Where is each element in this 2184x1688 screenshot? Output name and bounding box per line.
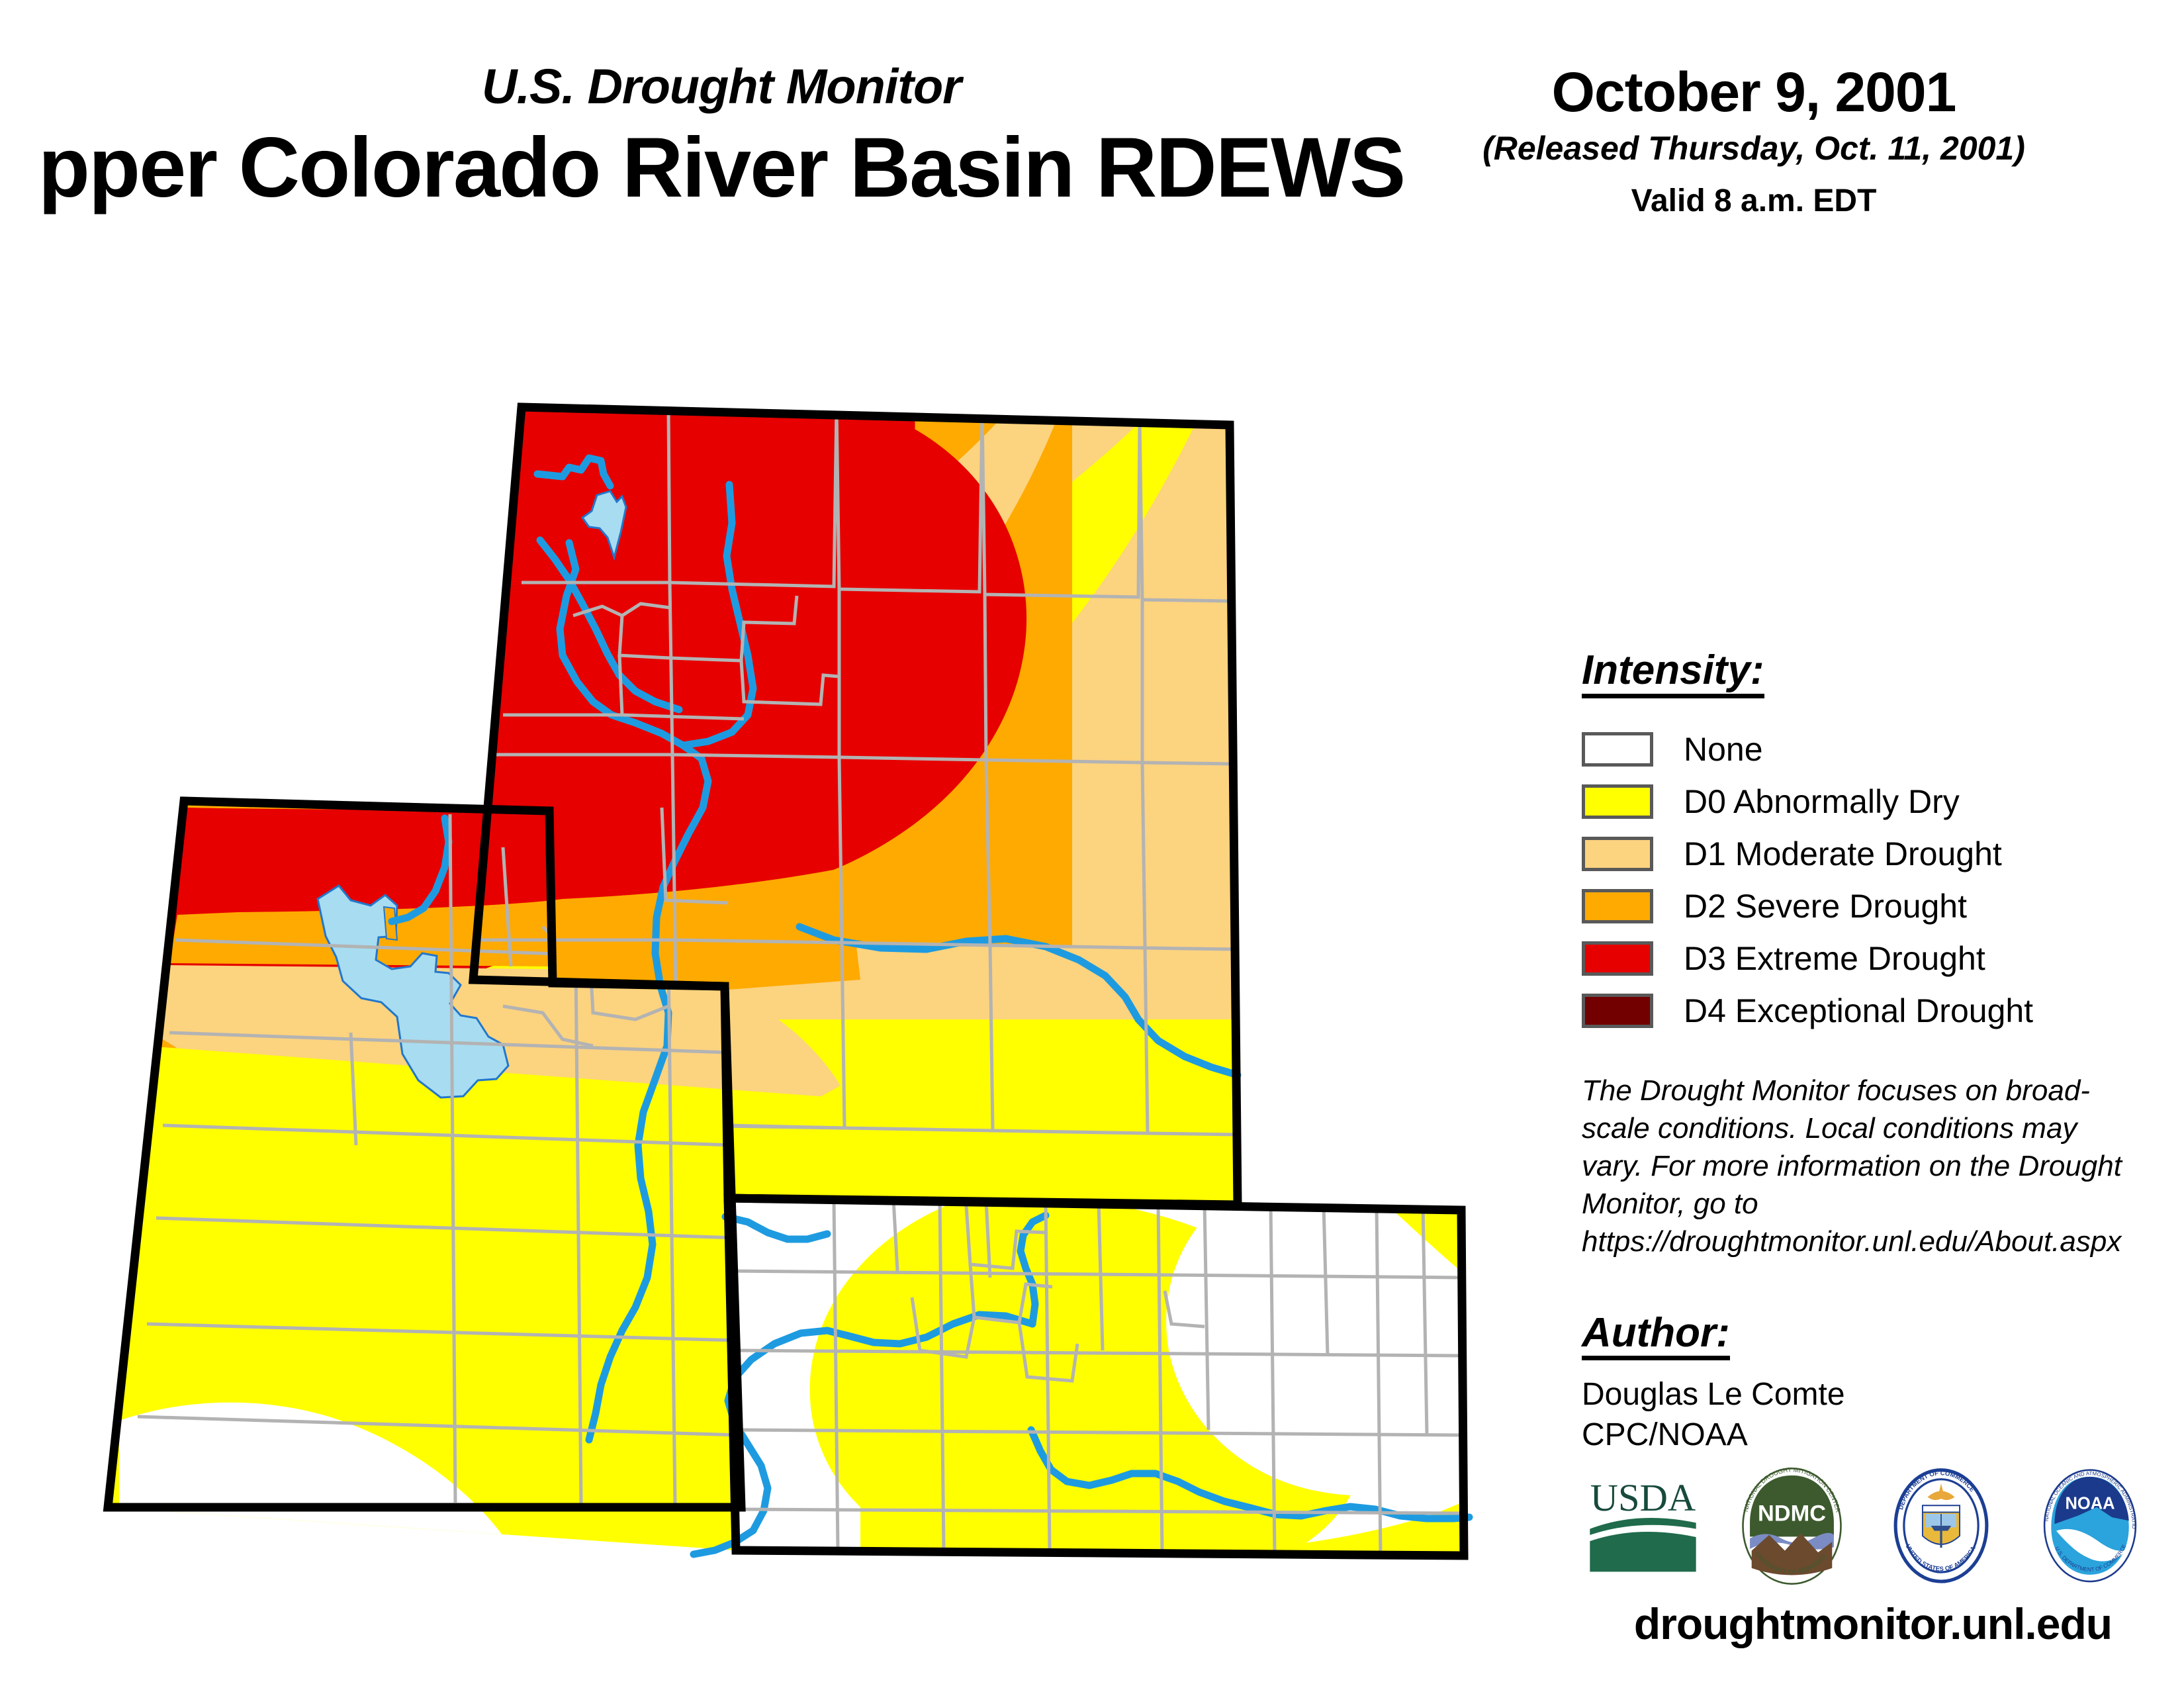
legend-swatch-none xyxy=(1582,732,1653,767)
map-svg xyxy=(40,344,1535,1602)
ndmc-logo-svg: NDMC NATIONAL DROUGHT MITIGATION CENTER … xyxy=(1734,1465,1850,1587)
legend-swatch-d3 xyxy=(1582,941,1653,976)
usda-wordmark: USDA xyxy=(1590,1476,1696,1519)
page-title: pper Colorado River Basin RDEWS xyxy=(0,126,1482,211)
date-block: October 9, 2001 (Released Thursday, Oct.… xyxy=(1456,63,2052,219)
legend-item-none[interactable]: None xyxy=(1582,724,2158,776)
noaa-wordmark: NOAA xyxy=(2065,1494,2115,1513)
legend-label-d3: D3 Extreme Drought xyxy=(1684,942,1985,975)
band-d3-utah xyxy=(179,808,555,912)
doc-ship-hull xyxy=(1931,1525,1951,1530)
partner-logos: USDA NDMC NATIONAL DROUGHT MITIGATION CE… xyxy=(1582,1460,2151,1592)
legend-list: None D0 Abnormally Dry D1 Moderate Droug… xyxy=(1582,724,2158,1037)
legend-item-d1[interactable]: D1 Moderate Drought xyxy=(1582,828,2158,880)
legend-item-d2[interactable]: D2 Severe Drought xyxy=(1582,880,2158,933)
ndmc-logo[interactable]: NDMC NATIONAL DROUGHT MITIGATION CENTER … xyxy=(1731,1465,1853,1587)
author-affiliation: CPC/NOAA xyxy=(1582,1415,2158,1456)
legend-panel: Intensity: None D0 Abnormally Dry D1 Mod… xyxy=(1582,649,2158,1456)
author-heading: Author: xyxy=(1582,1311,1730,1361)
legend-label-d1: D1 Moderate Drought xyxy=(1684,837,2002,870)
ndmc-wordmark: NDMC xyxy=(1758,1501,1826,1526)
drought-map[interactable] xyxy=(40,344,1535,1602)
usda-logo-svg: USDA xyxy=(1582,1470,1704,1582)
legend-item-d3[interactable]: D3 Extreme Drought xyxy=(1582,933,2158,985)
noaa-logo-svg: NOAA NATIONAL OCEANIC AND ATMOSPHERIC AD… xyxy=(2034,1465,2146,1587)
doc-logo-svg: DEPARTMENT OF COMMERCE UNITED STATES OF … xyxy=(1885,1465,1997,1587)
legend-swatch-d2 xyxy=(1582,889,1653,923)
valid-date: October 9, 2001 xyxy=(1456,63,2052,121)
legend-swatch-d1 xyxy=(1582,837,1653,871)
legend-label-d4: D4 Exceptional Drought xyxy=(1684,994,2033,1027)
valid-time: Valid 8 a.m. EDT xyxy=(1456,184,2052,219)
disclaimer-text: The Drought Monitor focuses on broad-sca… xyxy=(1582,1072,2138,1261)
usda-field xyxy=(1590,1532,1696,1571)
usda-logo[interactable]: USDA xyxy=(1582,1465,1704,1587)
released-date: (Released Thursday, Oct. 11, 2001) xyxy=(1456,130,2052,167)
doc-shield-top xyxy=(1922,1505,1959,1512)
legend-swatch-d0 xyxy=(1582,784,1653,819)
author-name: Douglas Le Comte xyxy=(1582,1375,2158,1415)
dm-subtitle: U.S. Drought Monitor xyxy=(410,58,1032,115)
legend-item-d0[interactable]: D0 Abnormally Dry xyxy=(1582,776,2158,828)
doc-logo[interactable]: DEPARTMENT OF COMMERCE UNITED STATES OF … xyxy=(1880,1465,2002,1587)
author-block: Douglas Le Comte CPC/NOAA xyxy=(1582,1375,2158,1456)
page-header: U.S. Drought Monitor pper Colorado River… xyxy=(0,0,2184,252)
noaa-logo[interactable]: NOAA NATIONAL OCEANIC AND ATMOSPHERIC AD… xyxy=(2028,1465,2151,1587)
legend-item-d4[interactable]: D4 Exceptional Drought xyxy=(1582,985,2158,1037)
legend-label-none: None xyxy=(1684,733,1763,766)
legend-heading: Intensity: xyxy=(1582,649,1764,698)
legend-label-d2: D2 Severe Drought xyxy=(1684,890,1967,923)
site-url[interactable]: droughtmonitor.unl.edu xyxy=(1582,1599,2164,1649)
legend-swatch-d4 xyxy=(1582,994,1653,1028)
legend-label-d0: D0 Abnormally Dry xyxy=(1684,785,1960,818)
